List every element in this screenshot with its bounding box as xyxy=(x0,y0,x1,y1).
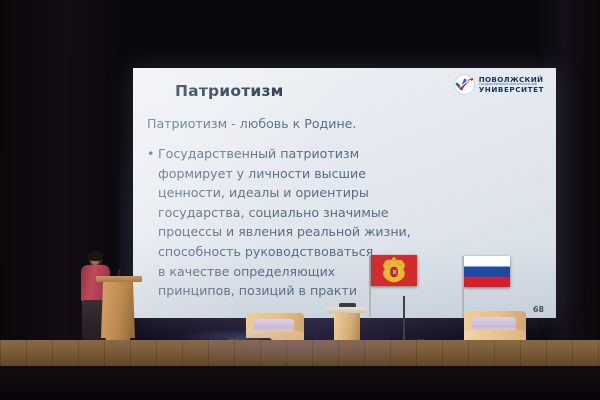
auditorium-scene: Патриотизм ПОВОЛЖСКИЙ государственный те… xyxy=(0,0,600,400)
bullet-line: ценности, идеалы и ориентиры xyxy=(158,183,545,203)
swoosh-check-emblem-icon xyxy=(454,74,475,95)
university-logo-text: ПОВОЛЖСКИЙ государственный технологическ… xyxy=(479,76,544,94)
slide-page-number: 68 xyxy=(533,305,544,314)
stage-apron xyxy=(0,366,600,400)
double-headed-eagle-emblem-icon xyxy=(371,255,417,286)
flag-pole xyxy=(462,256,464,318)
logo-line-2: государственный технологический xyxy=(479,83,542,86)
slide-title: Патриотизм xyxy=(175,82,284,100)
bullet-line: процессы и явления реальной жизни, xyxy=(158,222,545,242)
logo-line-3: УНИВЕРСИТЕТ xyxy=(479,86,544,93)
bullet-line: государства, социально значимые xyxy=(158,203,545,223)
university-logo: ПОВОЛЖСКИЙ государственный технологическ… xyxy=(454,74,544,95)
bullet-line: Государственный патриотизм xyxy=(158,144,545,164)
slide-lead-text: Патриотизм - любовь к Родине. xyxy=(147,116,543,131)
bullet-marker: • xyxy=(147,144,158,301)
russian-tricolor-flag xyxy=(464,256,510,287)
lectern-body xyxy=(101,282,135,338)
bullet-line: формирует у личности высшие xyxy=(158,164,545,184)
presenter-hair xyxy=(88,251,103,261)
flag-cloth xyxy=(464,256,510,287)
flag-cloth xyxy=(371,255,417,286)
mic-stand-pole xyxy=(403,296,405,342)
russian-coat-of-arms-flag xyxy=(371,255,417,286)
lectern-desktop xyxy=(96,276,142,282)
stage-floor xyxy=(0,340,600,368)
